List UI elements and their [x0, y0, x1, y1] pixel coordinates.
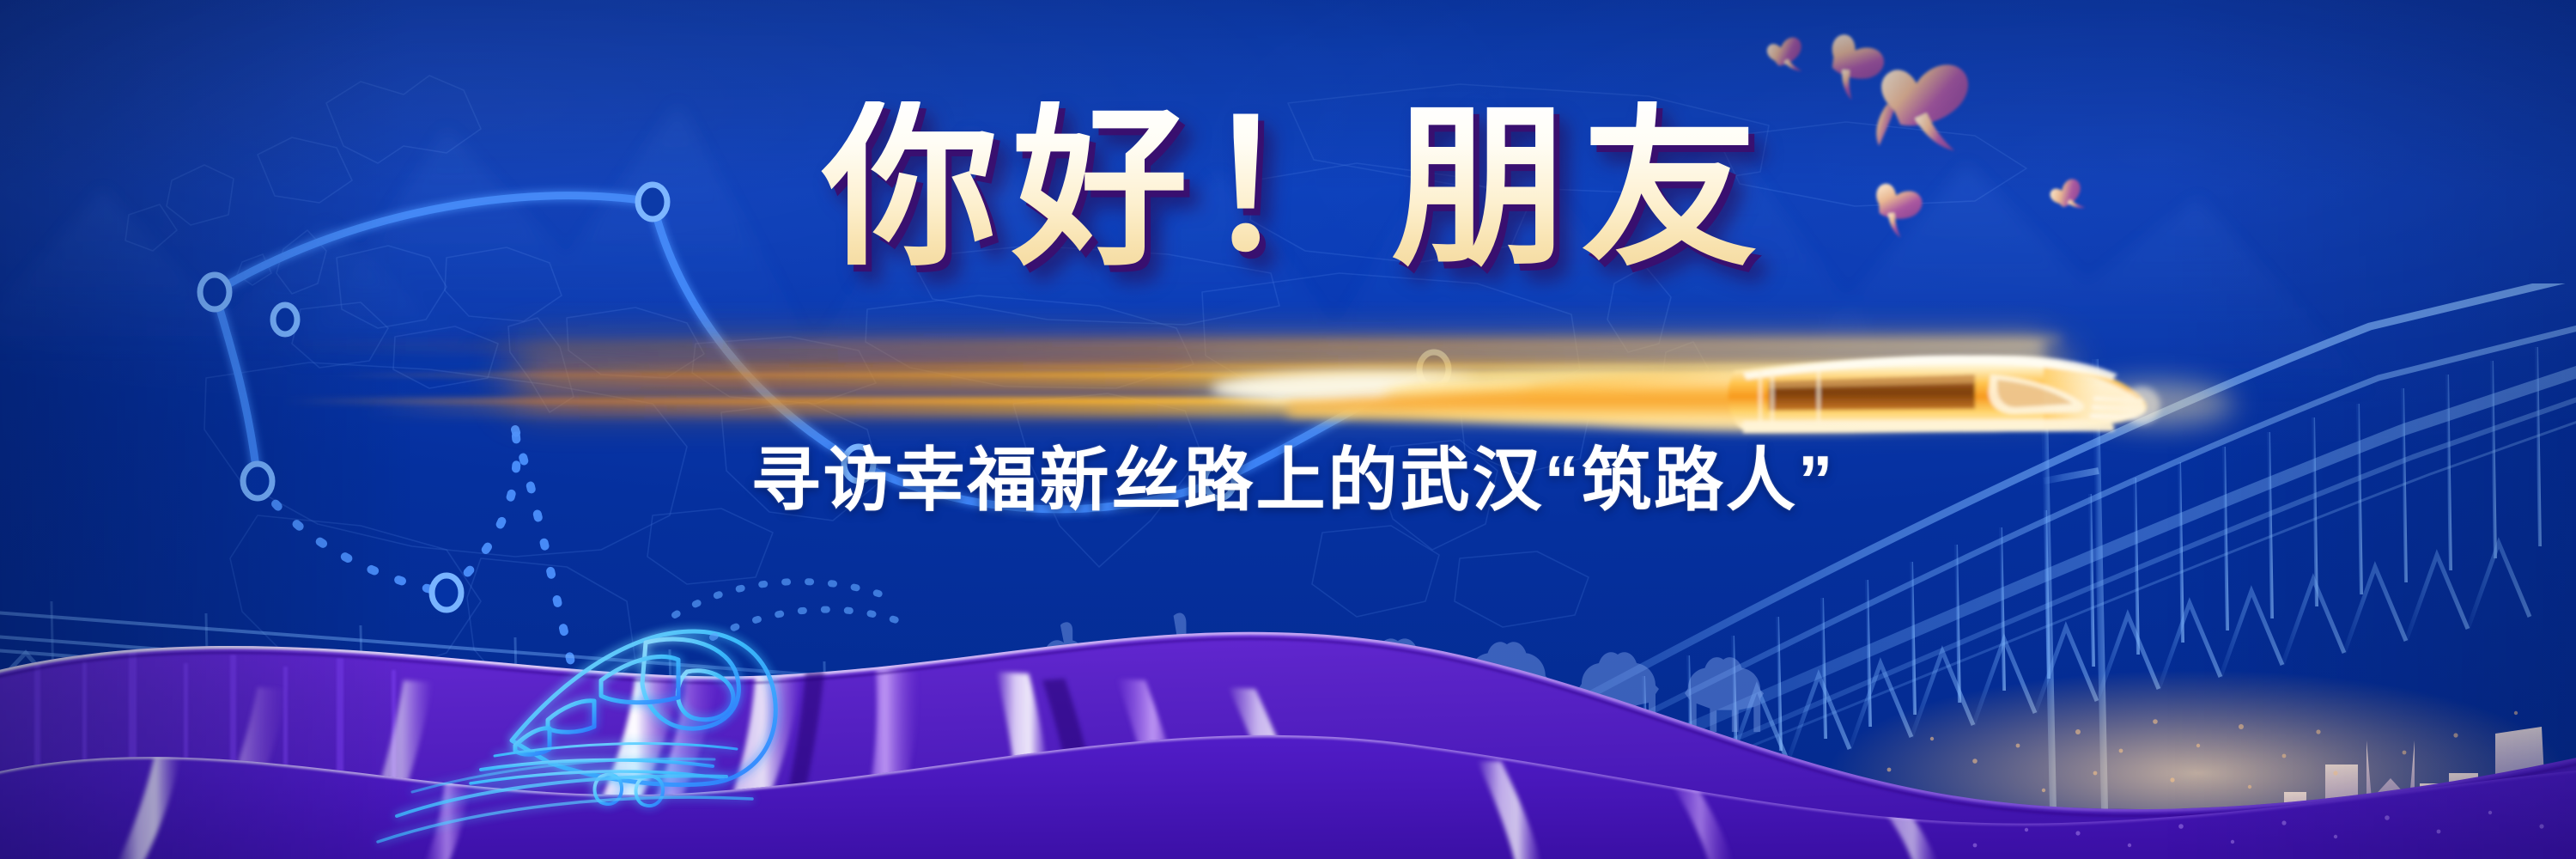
camel-caravan: [0, 0, 2576, 859]
suspension-bridge: [0, 0, 2576, 859]
wireframe-train: [0, 0, 2576, 859]
world-map-outline: [0, 0, 2576, 859]
headline-block: 你好！朋友 寻访幸福新丝路上的武汉“筑路人”: [0, 0, 2576, 859]
banner-poster: 你好！朋友 寻访幸福新丝路上的武汉“筑路人”: [0, 0, 2576, 859]
main-title: 你好！朋友: [0, 101, 2576, 277]
truss-bridge: [0, 0, 2576, 859]
silk-road-routes: [0, 0, 2576, 859]
sub-title: 寻访幸福新丝路上的武汉“筑路人”: [0, 447, 2576, 516]
silk-waves: [0, 0, 2576, 859]
mountains-silhouette: [0, 0, 2576, 859]
sky-background: [0, 0, 2576, 859]
butterflies: [0, 0, 2576, 859]
city-skyline: [0, 0, 2576, 859]
high-speed-train: [0, 0, 2576, 859]
background-vignette: [0, 0, 2576, 859]
